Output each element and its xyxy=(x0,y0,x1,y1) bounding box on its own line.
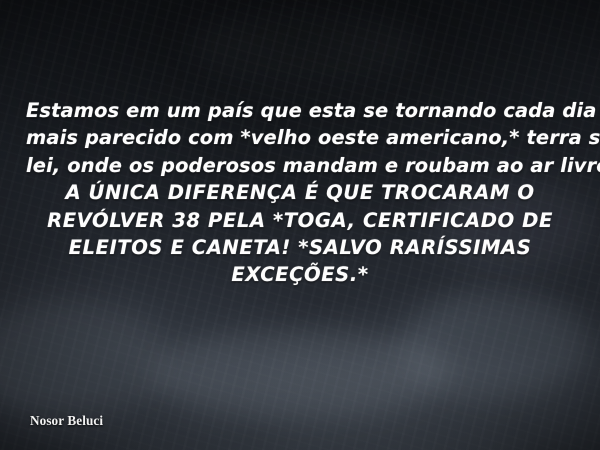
quote-line-7: EXCEÇÕES.* xyxy=(26,261,574,288)
quote-line-4: A ÚNICA DIFERENÇA É QUE TROCARAM O xyxy=(26,179,574,206)
quote-text-block: Estamos em um país que esta se tornando … xyxy=(0,97,600,289)
quote-line-3: lei, onde os poderosos mandam e roubam a… xyxy=(26,152,574,179)
attribution-name: Nosor Beluci xyxy=(30,413,103,429)
chalk-smudge-bottom-right xyxy=(400,290,590,400)
chalk-smudge-left xyxy=(0,300,170,420)
chalkboard-quote-card: Estamos em um país que esta se tornando … xyxy=(0,0,600,450)
chalk-smudge-bottom-center xyxy=(150,330,450,420)
chalk-smudge-top-center xyxy=(190,10,420,80)
quote-line-6: ELEITOS E CANETA! *SALVO RARÍSSIMAS xyxy=(26,234,574,261)
quote-line-5: REVÓLVER 38 PELA *TOGA, CERTIFICADO DE xyxy=(26,207,574,234)
quote-line-1: Estamos em um país que esta se tornando … xyxy=(26,97,574,124)
quote-line-2: mais parecido com *velho oeste americano… xyxy=(26,124,574,151)
